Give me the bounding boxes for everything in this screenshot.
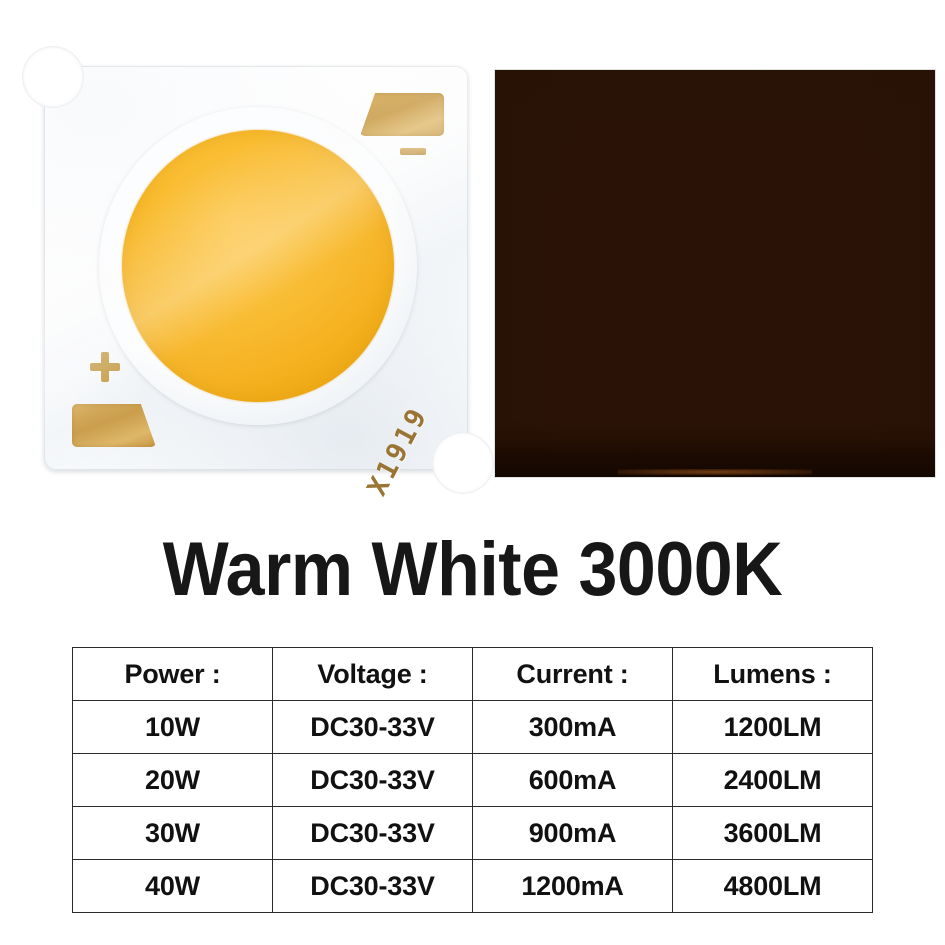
phosphor-emitter-disc <box>122 130 394 402</box>
minus-polarity-icon <box>400 148 426 155</box>
beam-floor-shadow <box>495 421 935 477</box>
cell-current: 600mA <box>473 754 673 807</box>
cell-power: 40W <box>73 860 273 913</box>
header-lumens: Lumens : <box>673 648 873 701</box>
product-photo-row: X1919 <box>0 0 945 500</box>
cell-lumens: 4800LM <box>673 860 873 913</box>
cell-current: 300mA <box>473 701 673 754</box>
beam-floor-reflection <box>618 469 812 475</box>
cell-current: 900mA <box>473 807 673 860</box>
header-current: Current : <box>473 648 673 701</box>
cell-lumens: 2400LM <box>673 754 873 807</box>
cell-voltage: DC30-33V <box>273 807 473 860</box>
cell-power: 30W <box>73 807 273 860</box>
silicone-ring <box>99 107 417 425</box>
led-chip-photo: X1919 <box>38 62 478 478</box>
cell-lumens: 3600LM <box>673 807 873 860</box>
cell-current: 1200mA <box>473 860 673 913</box>
table-row: 30W DC30-33V 900mA 3600LM <box>73 807 873 860</box>
beam-shot-photo <box>495 70 935 477</box>
table-header-row: Power : Voltage : Current : Lumens : <box>73 648 873 701</box>
table-row: 10W DC30-33V 300mA 1200LM <box>73 701 873 754</box>
cell-voltage: DC30-33V <box>273 701 473 754</box>
specification-table: Power : Voltage : Current : Lumens : 10W… <box>72 647 873 913</box>
table-row: 20W DC30-33V 600mA 2400LM <box>73 754 873 807</box>
cell-power: 10W <box>73 701 273 754</box>
corner-notch-top-left <box>22 46 84 108</box>
header-power: Power : <box>73 648 273 701</box>
cell-voltage: DC30-33V <box>273 860 473 913</box>
page-title: Warm White 3000K <box>38 527 907 613</box>
cell-lumens: 1200LM <box>673 701 873 754</box>
header-voltage: Voltage : <box>273 648 473 701</box>
corner-notch-bottom-right <box>432 432 494 494</box>
beam-vignette <box>495 70 935 477</box>
cell-voltage: DC30-33V <box>273 754 473 807</box>
table-row: 40W DC30-33V 1200mA 4800LM <box>73 860 873 913</box>
plus-polarity-icon <box>90 352 120 382</box>
cell-power: 20W <box>73 754 273 807</box>
